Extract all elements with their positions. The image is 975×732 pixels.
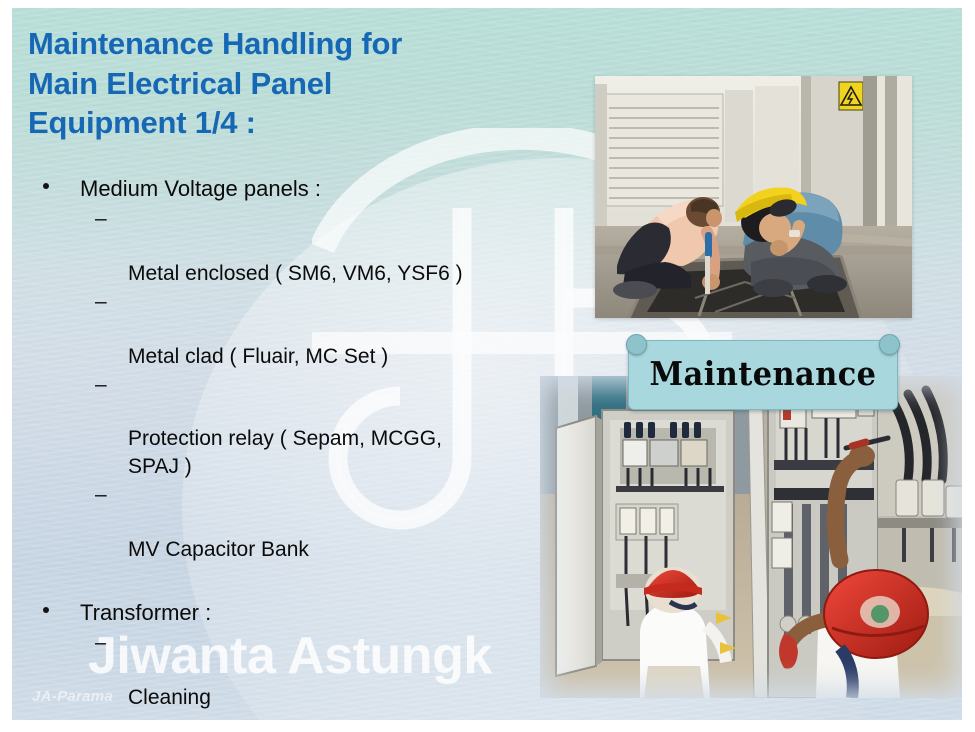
dash-icon: – [95, 712, 107, 720]
bullet-heading-label: Transformer : [80, 600, 211, 625]
dash-icon: – [95, 371, 107, 398]
dash-icon: – [95, 288, 107, 315]
bullet-group-transformer: Transformer : – Cleaning – Test function… [32, 598, 552, 720]
sub-bullet-item: – MV Capacitor Bank [32, 481, 552, 563]
slide-canvas: Maintenance Handling for Main Electrical… [12, 8, 962, 720]
sub-bullet-label: Protection relay ( Sepam, MCGG, SPAJ ) [128, 427, 442, 477]
body-content: Medium Voltage panels : – Metal enclosed… [32, 174, 552, 720]
bullet-heading: Medium Voltage panels : [32, 174, 552, 203]
maintenance-label-plaque: Maintenance [624, 334, 902, 412]
dash-icon: – [95, 629, 107, 656]
dash-icon: – [95, 481, 107, 508]
bullet-dot-icon [43, 183, 49, 189]
bullet-dot-icon [43, 607, 49, 613]
sub-bullet-item: – Protection relay ( Sepam, MCGG, SPAJ ) [32, 371, 552, 480]
bullet-heading-label: Medium Voltage panels : [80, 176, 321, 201]
sub-bullet-item: – Metal clad ( Fluair, MC Set ) [32, 288, 552, 370]
sub-bullet-label: Metal clad ( Fluair, MC Set ) [128, 345, 388, 368]
photo-panel-servicing [540, 376, 962, 698]
sub-bullet-item: – Test function temperature ( alarm and … [32, 712, 552, 720]
group-spacer [32, 564, 552, 598]
sub-bullet-label: Cleaning [128, 686, 211, 709]
sub-bullet-label: Metal enclosed ( SM6, VM6, YSF6 ) [128, 262, 463, 285]
bullet-group-medium-voltage-panels: Medium Voltage panels : – Metal enclosed… [32, 174, 552, 563]
sub-bullet-label: MV Capacitor Bank [128, 538, 309, 561]
sub-bullet-item: – Cleaning [32, 629, 552, 711]
dash-icon: – [95, 205, 107, 232]
bullet-heading: Transformer : [32, 598, 552, 627]
slide-title: Maintenance Handling for Main Electrical… [28, 24, 588, 143]
plaque-knob-left-icon [626, 334, 647, 355]
photo-floor-trench-inspection [595, 76, 912, 318]
sub-bullet-item: – Metal enclosed ( SM6, VM6, YSF6 ) [32, 205, 552, 287]
plaque-label: Maintenance [635, 354, 891, 393]
plaque-knob-right-icon [879, 334, 900, 355]
